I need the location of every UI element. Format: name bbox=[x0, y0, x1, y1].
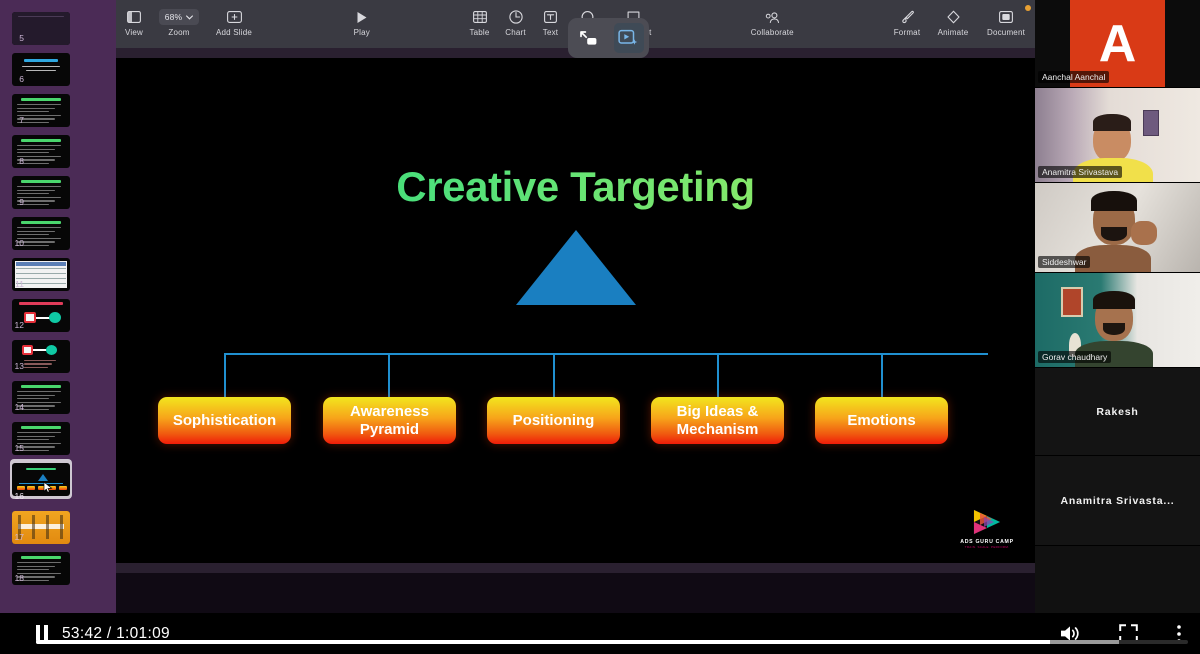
logo-play-mark bbox=[970, 507, 1004, 537]
pillar-box-awareness-pyramid[interactable]: Awareness Pyramid bbox=[323, 397, 456, 444]
pillar-box-emotions[interactable]: Emotions bbox=[815, 397, 948, 444]
toolbar-collaborate-button[interactable]: Collaborate bbox=[737, 0, 807, 37]
pillar-label: Awareness Pyramid bbox=[327, 403, 452, 438]
document-icon bbox=[999, 9, 1013, 25]
slide-number: 17 bbox=[2, 532, 24, 542]
navigator-slide-16[interactable]: 16 bbox=[0, 455, 116, 503]
pillar-label: Sophistication bbox=[173, 412, 276, 429]
participant-tile[interactable]: Siddeshwar bbox=[1035, 183, 1200, 273]
navigator-slide-15[interactable]: 15 bbox=[0, 414, 116, 455]
slide-number: 10 bbox=[2, 238, 24, 248]
participant-tile[interactable]: Gorav chaudhary bbox=[1035, 273, 1200, 368]
chevron-down-icon bbox=[186, 15, 193, 20]
video-player-page: 5 67891011 12 131415 16 1718 View bbox=[0, 0, 1200, 654]
participant-name: Siddeshwar bbox=[1038, 256, 1090, 268]
toolbar-document-label: Document bbox=[987, 29, 1025, 37]
navigator-slide-6[interactable]: 6 bbox=[0, 45, 116, 86]
toolbar-format-button[interactable]: Format bbox=[885, 0, 929, 37]
navigator-slide-8[interactable]: 8 bbox=[0, 127, 116, 168]
pillar-box-big-ideas-mechanism[interactable]: Big Ideas & Mechanism bbox=[651, 397, 784, 444]
zoom-pill[interactable]: 68% bbox=[159, 9, 200, 25]
toolbar-zoom-label: Zoom bbox=[168, 29, 189, 37]
ads-guru-camp-logo: ADS GURU CAMP TRAIN. SCALE. PERFORM. bbox=[959, 507, 1015, 549]
participant-tile[interactable]: AAanchal Aanchal bbox=[1035, 0, 1200, 88]
toolbar-chart-button[interactable]: Chart bbox=[498, 0, 534, 37]
slide-navigator[interactable]: 5 67891011 12 131415 16 1718 bbox=[0, 0, 116, 613]
toolbar-play-button[interactable]: Play bbox=[340, 0, 384, 37]
play-icon bbox=[356, 9, 368, 25]
table-icon bbox=[473, 9, 487, 25]
participant-name: Gorav chaudhary bbox=[1038, 351, 1111, 363]
progress-scrubber[interactable] bbox=[36, 640, 1188, 644]
toolbar-text-button[interactable]: Text bbox=[534, 0, 568, 37]
pillar-label: Big Ideas & Mechanism bbox=[655, 403, 780, 438]
shared-screen-stage[interactable]: 5 67891011 12 131415 16 1718 View bbox=[0, 0, 1035, 613]
pyramid-triangle-shape bbox=[516, 230, 636, 305]
add-slide-icon bbox=[227, 9, 242, 25]
toolbar-animate-button[interactable]: Animate bbox=[929, 0, 977, 37]
player-left-controls[interactable]: 53:42 / 1:01:09 bbox=[36, 613, 170, 654]
navigator-slide-12[interactable]: 12 bbox=[0, 291, 116, 332]
navigator-slide-14[interactable]: 14 bbox=[0, 373, 116, 414]
participant-rail[interactable]: AAanchal Aanchal Anamitra Srivastava Sid… bbox=[1035, 0, 1200, 613]
slide-canvas[interactable]: Creative Targeting Sophistication bbox=[116, 48, 1035, 573]
view-panels-icon bbox=[127, 9, 141, 25]
pillar-label: Emotions bbox=[847, 412, 915, 429]
toolbar-view-button[interactable]: View bbox=[116, 0, 152, 37]
navigator-slide-9[interactable]: 9 bbox=[0, 168, 116, 209]
toolbar-chart-label: Chart bbox=[505, 29, 526, 37]
slide-number: 18 bbox=[2, 573, 24, 583]
slide-number: 6 bbox=[2, 74, 24, 84]
toolbar-animate-label: Animate bbox=[938, 29, 969, 37]
progress-played bbox=[36, 640, 1050, 644]
presentation-mode-popover[interactable] bbox=[568, 18, 649, 58]
pillar-box-sophistication[interactable]: Sophistication bbox=[158, 397, 291, 444]
participant-tile[interactable]: Anamitra Srivastava bbox=[1035, 88, 1200, 183]
animate-diamond-icon bbox=[946, 9, 961, 25]
zoom-value: 68% bbox=[165, 12, 183, 22]
participant-name: Aanchal Aanchal bbox=[1038, 71, 1109, 83]
navigator-slide-7[interactable]: 7 bbox=[0, 86, 116, 127]
toolbar-add-slide-button[interactable]: Add Slide bbox=[206, 0, 262, 37]
navigator-slide-10[interactable]: 10 bbox=[0, 209, 116, 250]
slide-number: 8 bbox=[2, 156, 24, 166]
slide-title: Creative Targeting bbox=[116, 163, 1035, 211]
navigator-slide-17[interactable]: 17 bbox=[0, 503, 116, 544]
slide-number: 12 bbox=[2, 320, 24, 330]
navigator-slide-18[interactable]: 18 bbox=[0, 544, 116, 585]
navigator-slide-5[interactable]: 5 bbox=[0, 4, 116, 45]
slide-number: 13 bbox=[2, 361, 24, 371]
toolbar-collaborate-label: Collaborate bbox=[751, 29, 794, 37]
toolbar-document-button[interactable]: Document bbox=[977, 0, 1035, 37]
text-icon bbox=[544, 9, 557, 25]
navigator-slide-13[interactable]: 13 bbox=[0, 332, 116, 373]
participant-name: Anamitra Srivastava bbox=[1038, 166, 1122, 178]
pillar-label: Positioning bbox=[513, 412, 595, 429]
toolbar-zoom-control[interactable]: 68% Zoom bbox=[152, 0, 206, 37]
participant-tile[interactable]: Rakesh bbox=[1035, 368, 1200, 456]
slide-number: 15 bbox=[2, 443, 24, 453]
toolbar-view-label: View bbox=[125, 29, 143, 37]
navigator-slide-11[interactable]: 11 bbox=[0, 250, 116, 291]
logo-tagline: TRAIN. SCALE. PERFORM. bbox=[959, 545, 1015, 549]
participant-name: Rakesh bbox=[1035, 406, 1200, 418]
slide-number: 7 bbox=[2, 115, 24, 125]
format-brush-icon bbox=[900, 9, 914, 25]
participant-tile[interactable]: Anamitra Srivasta... bbox=[1035, 456, 1200, 546]
participant-name: Anamitra Srivasta... bbox=[1035, 495, 1200, 507]
chart-icon bbox=[509, 9, 523, 25]
slide-number: 16 bbox=[2, 491, 24, 501]
document-notification-dot bbox=[1025, 5, 1031, 11]
slide-number: 5 bbox=[2, 33, 24, 43]
connector-horizontal-line bbox=[224, 353, 988, 355]
toolbar-table-label: Table bbox=[469, 29, 489, 37]
toolbar-format-label: Format bbox=[894, 29, 921, 37]
slide-number: 9 bbox=[2, 197, 24, 207]
toolbar-text-label: Text bbox=[543, 29, 558, 37]
toolbar-table-button[interactable]: Table bbox=[462, 0, 498, 37]
toolbar-play-label: Play bbox=[354, 29, 370, 37]
present-effects-icon[interactable] bbox=[614, 23, 644, 53]
slide-number: 11 bbox=[2, 279, 24, 289]
current-slide[interactable]: Creative Targeting Sophistication bbox=[116, 58, 1035, 563]
picture-in-picture-icon[interactable] bbox=[573, 23, 603, 53]
slide-number: 14 bbox=[2, 402, 24, 412]
player-right-controls[interactable] bbox=[1059, 613, 1182, 654]
video-player-controls[interactable]: 53:42 / 1:01:09 bbox=[0, 613, 1200, 654]
toolbar-add-slide-label: Add Slide bbox=[216, 29, 252, 37]
collaborate-icon bbox=[764, 9, 780, 25]
pillar-box-positioning[interactable]: Positioning bbox=[487, 397, 620, 444]
